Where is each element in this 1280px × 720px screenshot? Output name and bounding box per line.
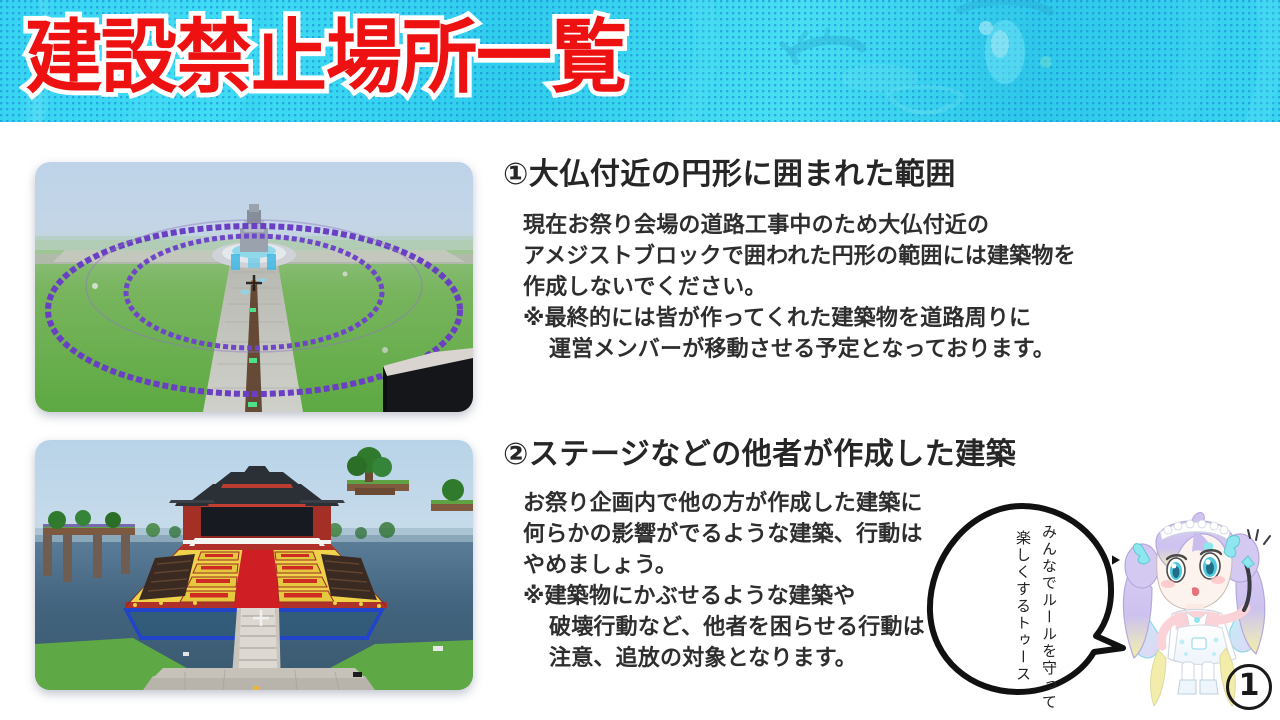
body-line: 破壊行動など、他者を困らせる行動は bbox=[523, 612, 925, 643]
title-banner: 建設禁止場所一覧 bbox=[0, 0, 1280, 122]
page-number-value: 1 bbox=[1239, 668, 1260, 703]
body-line: やめましょう。 bbox=[523, 550, 925, 581]
section-1-heading: ①大仏付近の円形に囲まれた範囲 bbox=[503, 158, 956, 192]
body-line: アメジストブロックで囲われた円形の範囲には建築物を bbox=[523, 241, 1076, 272]
body-line: 運営メンバーが移動させる予定となっております。 bbox=[523, 334, 1076, 365]
section-1-body: 現在お祭り会場の道路工事中のため大仏付近の アメジストブロックで囲われた円形の範… bbox=[523, 210, 1076, 365]
body-line: ※最終的には皆が作ってくれた建築物を道路周りに bbox=[523, 303, 1076, 334]
body-line: ※建築物にかぶせるような建築や bbox=[523, 581, 925, 612]
body-line: 何らかの影響がでるような建築、行動は bbox=[523, 519, 925, 550]
body-line: 注意、追放の対象となります。 bbox=[523, 643, 925, 674]
speech-bubble-line-2: 楽しくするトゥース bbox=[1012, 530, 1033, 683]
section-2-body: お祭り企画内で他の方が作成した建築に 何らかの影響がでるような建築、行動は やめ… bbox=[523, 488, 925, 674]
screenshot-stage-area bbox=[35, 440, 473, 690]
page-number-badge: 1 bbox=[1226, 664, 1272, 710]
body-line: お祭り企画内で他の方が作成した建築に bbox=[523, 488, 925, 519]
speech-bubble: みんなでルールを守って 楽しくするトゥース bbox=[918, 500, 1133, 700]
screenshot-daibutsu-area bbox=[35, 162, 473, 412]
body-line: 作成しないでください。 bbox=[523, 272, 1076, 303]
page-title: 建設禁止場所一覧 bbox=[26, 12, 626, 103]
slide-root: 建設禁止場所一覧 bbox=[0, 0, 1280, 720]
body-line: 現在お祭り会場の道路工事中のため大仏付近の bbox=[523, 210, 1076, 241]
section-2-heading: ②ステージなどの他者が作成した建築 bbox=[503, 438, 1016, 472]
speech-bubble-line-1: みんなでルールを守って bbox=[1038, 524, 1059, 711]
